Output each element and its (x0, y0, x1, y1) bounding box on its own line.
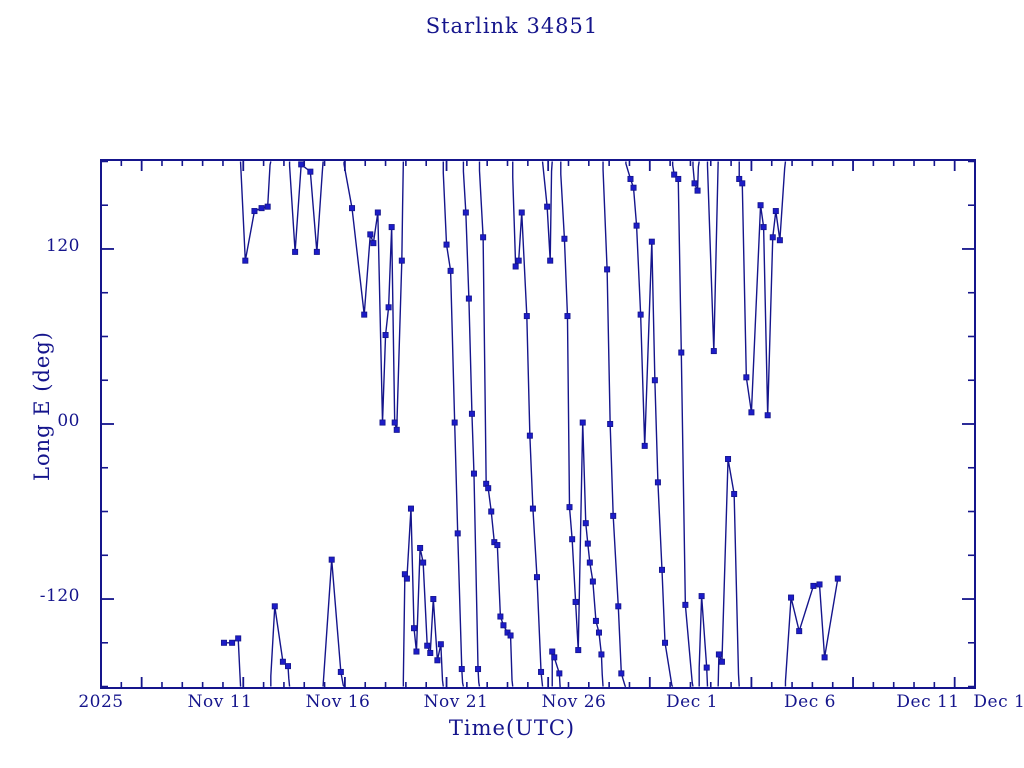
data-point (583, 521, 588, 526)
data-point (552, 655, 557, 660)
data-point (719, 659, 724, 664)
data-point (252, 208, 257, 213)
data-point (704, 665, 709, 670)
data-point (565, 313, 570, 318)
data-point (608, 421, 613, 426)
data-point (573, 599, 578, 604)
data-point (308, 169, 313, 174)
data-point (642, 443, 647, 448)
data-point (835, 576, 840, 581)
data-point (628, 176, 633, 181)
data-point (293, 249, 298, 254)
data-point (280, 659, 285, 664)
data-point (399, 258, 404, 263)
data-point (530, 506, 535, 511)
data-point (550, 649, 555, 654)
data-point (475, 666, 480, 671)
data-point (404, 576, 409, 581)
data-point (455, 531, 460, 536)
data-point (489, 509, 494, 514)
data-point (761, 224, 766, 229)
data-line-segment (543, 161, 553, 260)
data-point (428, 650, 433, 655)
data-point (634, 223, 639, 228)
data-point (679, 350, 684, 355)
data-point (230, 640, 235, 645)
data-point (548, 258, 553, 263)
data-point (744, 375, 749, 380)
data-point (516, 258, 521, 263)
data-point (501, 623, 506, 628)
data-point (593, 618, 598, 623)
data-point (431, 596, 436, 601)
data-point (817, 582, 822, 587)
data-point (394, 427, 399, 432)
data-point (749, 410, 754, 415)
data-point (797, 629, 802, 634)
data-point (740, 181, 745, 186)
data-point (788, 595, 793, 600)
data-point (527, 433, 532, 438)
data-point (481, 235, 486, 240)
data-point (676, 176, 681, 181)
data-point (605, 267, 610, 272)
data-point (770, 235, 775, 240)
data-point (375, 210, 380, 215)
data-point (463, 210, 468, 215)
data-point (576, 647, 581, 652)
data-line-segment (463, 161, 479, 686)
data-point (557, 671, 562, 676)
data-point (519, 210, 524, 215)
data-point (638, 312, 643, 317)
data-point (380, 420, 385, 425)
data-line-segment (271, 606, 290, 686)
data-point (221, 640, 226, 645)
data-point (683, 602, 688, 607)
data-point (498, 614, 503, 619)
data-point (587, 560, 592, 565)
data-point (652, 378, 657, 383)
data-point (272, 604, 277, 609)
data-point (822, 655, 827, 660)
data-point (567, 505, 572, 510)
data-point (596, 630, 601, 635)
data-line-segment (707, 161, 718, 351)
data-point (662, 640, 667, 645)
data-point (649, 239, 654, 244)
data-line-segment (290, 161, 324, 251)
data-point (448, 268, 453, 273)
data-point (408, 506, 413, 511)
data-point (619, 671, 624, 676)
data-point (758, 203, 763, 208)
data-point (545, 204, 550, 209)
data-point (452, 420, 457, 425)
data-point (716, 652, 721, 657)
data-point (599, 652, 604, 657)
data-point (773, 208, 778, 213)
data-point (585, 541, 590, 546)
data-point (508, 633, 513, 638)
data-point (329, 557, 334, 562)
data-point (362, 312, 367, 317)
plot-canvas (0, 0, 1024, 768)
data-point (371, 241, 376, 246)
data-point (495, 542, 500, 547)
data-point (386, 305, 391, 310)
data-point (414, 649, 419, 654)
data-point (538, 669, 543, 674)
data-point (655, 480, 660, 485)
data-point (616, 604, 621, 609)
data-point (590, 579, 595, 584)
data-point (435, 658, 440, 663)
data-point (469, 411, 474, 416)
data-point (368, 232, 373, 237)
data-point (811, 583, 816, 588)
data-point (444, 242, 449, 247)
data-point (285, 664, 290, 669)
data-point (265, 204, 270, 209)
data-point (580, 420, 585, 425)
data-point (383, 332, 388, 337)
data-point (425, 643, 430, 648)
data-point (392, 420, 397, 425)
data-point (711, 348, 716, 353)
data-point (562, 236, 567, 241)
data-point (314, 249, 319, 254)
data-point (389, 224, 394, 229)
data-point (411, 626, 416, 631)
data-point (631, 185, 636, 190)
data-point (524, 313, 529, 318)
data-point (466, 296, 471, 301)
data-line-segment (513, 161, 543, 686)
data-point (570, 537, 575, 542)
data-line-segment (323, 560, 344, 687)
data-point (349, 206, 354, 211)
data-point (486, 486, 491, 491)
data-point (725, 456, 730, 461)
data-series-long-e (221, 161, 840, 686)
data-point (418, 545, 423, 550)
data-point (513, 264, 518, 269)
chart-figure: Starlink 34851 Time(UTC) Long E (deg) 12… (0, 0, 1024, 768)
data-line-segment (344, 161, 403, 429)
data-point (611, 513, 616, 518)
data-point (338, 669, 343, 674)
data-point (732, 491, 737, 496)
data-point (259, 206, 264, 211)
data-line-segment (699, 596, 707, 686)
data-point (459, 666, 464, 671)
data-point (777, 238, 782, 243)
data-point (534, 575, 539, 580)
data-point (765, 413, 770, 418)
data-point (243, 258, 248, 263)
data-point (695, 188, 700, 193)
data-point (659, 567, 664, 572)
data-line-segment (603, 161, 626, 686)
data-point (421, 560, 426, 565)
data-point (438, 642, 443, 647)
data-point (299, 162, 304, 167)
data-point (236, 636, 241, 641)
data-point (692, 181, 697, 186)
data-point (699, 594, 704, 599)
data-point (471, 471, 476, 476)
